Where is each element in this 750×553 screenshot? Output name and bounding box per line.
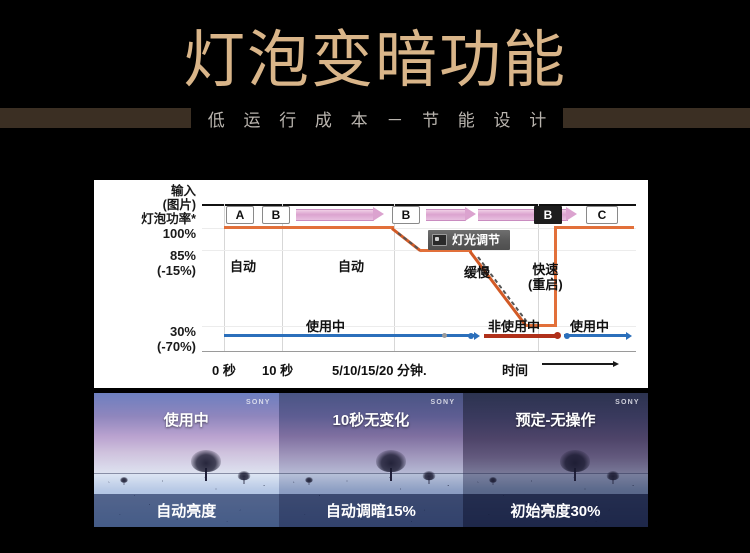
label-fast: 快速 — [528, 262, 563, 277]
light-adjust-badge-label: 灯光调节 — [452, 231, 500, 248]
y-axis-header-line-1: 输入 — [94, 184, 196, 198]
sony-logo: SONY — [431, 399, 456, 406]
photo-2-caption: 自动调暗15% — [279, 494, 464, 527]
y-tick-85-value: 85% — [94, 248, 196, 263]
tree-crown — [191, 450, 221, 472]
header: 灯泡变暗功能 低 运 行 成 本 － 节 能 设 计 — [0, 0, 750, 150]
label-auto-2: 自动 — [338, 256, 364, 275]
gridline-v-mid — [394, 204, 395, 352]
page-subtitle: 低 运 行 成 本 － 节 能 设 计 — [201, 106, 554, 131]
label-slow: 缓慢 — [464, 262, 490, 281]
usage-marker-red — [554, 332, 561, 339]
chip-c-1[interactable]: C — [586, 206, 618, 224]
y-tick-85: 85% (-15%) — [94, 248, 196, 278]
arrow-bar-2 — [426, 208, 476, 220]
y-tick-30-sub: (-70%) — [94, 339, 196, 354]
y-tick-100: 100% — [94, 226, 196, 241]
arrow-bar-1 — [296, 208, 386, 220]
arrow-bar-3 — [478, 208, 578, 220]
tree-crown — [238, 471, 251, 480]
tree-crown — [422, 471, 435, 480]
chip-b-3[interactable]: B — [534, 206, 562, 224]
x-tick-minutes: 5/10/15/20 分钟. — [332, 360, 427, 379]
chip-a-1[interactable]: A — [226, 206, 254, 224]
subtitle-row: 低 运 行 成 本 － 节 能 设 计 — [0, 104, 750, 132]
label-fast-sub: (重启) — [528, 277, 563, 292]
label-not-in-use: 非使用中 — [488, 316, 540, 335]
usage-arrow-2 — [626, 332, 632, 340]
x-axis-line — [202, 351, 636, 352]
sony-logo: SONY — [615, 399, 640, 406]
usage-line-in-use-1 — [224, 334, 474, 337]
arrow-bar-2-shaft — [426, 209, 466, 221]
plot-area: 自动 自动 缓慢 快速 (重启) 使用中 非使用中 使用中 灯光调节 — [202, 204, 636, 352]
photo-panel-2[interactable]: SONY 10秒无变化 自动调暗15% — [279, 393, 464, 527]
chart-panel: 输入 (图片) 灯泡功率* 100% 85% (-15%) 30% (-70%) — [94, 180, 648, 388]
y-tick-85-sub: (-15%) — [94, 263, 196, 278]
y-tick-30-value: 30% — [94, 324, 196, 339]
arrow-bar-1-shaft — [296, 209, 374, 221]
lamp-line-100-final — [554, 226, 634, 229]
usage-arrow-1 — [474, 332, 480, 340]
x-axis-label: 时间 — [502, 360, 528, 379]
photo-panel-1[interactable]: SONY 使用中 自动亮度 — [94, 393, 279, 527]
arrow-bar-1-head — [373, 207, 384, 221]
image-source-track: A B B B C — [202, 206, 636, 224]
photo-3-caption: 初始亮度30% — [463, 494, 648, 527]
photo-3-overlay-title: 预定-无操作 — [463, 409, 648, 430]
tree-crown — [560, 450, 590, 472]
arrow-bar-3-head — [566, 207, 577, 221]
subtitle-bar-left — [0, 108, 191, 128]
page-title: 灯泡变暗功能 — [0, 24, 750, 98]
label-in-use-1: 使用中 — [306, 316, 345, 335]
y-axis-header-line-3: 灯泡功率* — [94, 212, 196, 226]
photo-2-overlay-title: 10秒无变化 — [279, 409, 464, 430]
photo-1-caption: 自动亮度 — [94, 494, 279, 527]
label-fast-group: 快速 (重启) — [528, 262, 563, 292]
subtitle-bar-right — [563, 108, 750, 128]
page-root: 灯泡变暗功能 低 运 行 成 本 － 节 能 设 计 输入 (图片) 灯泡功率*… — [0, 0, 750, 553]
light-adjust-badge[interactable]: 灯光调节 — [428, 230, 510, 250]
chart-inner: 输入 (图片) 灯泡功率* 100% 85% (-15%) 30% (-70%) — [94, 180, 648, 388]
lamp-line-100-flat — [224, 226, 394, 229]
remote-control-icon — [432, 234, 447, 246]
label-in-use-2: 使用中 — [570, 316, 609, 335]
photo-1-overlay-title: 使用中 — [94, 409, 279, 430]
time-direction-arrow — [542, 363, 614, 365]
tree-crown — [376, 450, 406, 472]
chip-b-1[interactable]: B — [262, 206, 290, 224]
label-auto-1: 自动 — [230, 256, 256, 275]
tree-crown — [607, 471, 620, 480]
usage-marker-grey-1 — [442, 333, 447, 338]
photo-strip: SONY 使用中 自动亮度 SONY 10秒无变化 自动调暗15% — [94, 393, 648, 527]
y-tick-30: 30% (-70%) — [94, 324, 196, 354]
sony-logo: SONY — [246, 399, 271, 406]
y-axis-header: 输入 (图片) 灯泡功率* — [94, 184, 196, 226]
photo-panel-3[interactable]: SONY 预定-无操作 初始亮度30% — [463, 393, 648, 527]
arrow-bar-2-head — [465, 207, 476, 221]
chip-b-2[interactable]: B — [392, 206, 420, 224]
x-tick-0s: 0 秒 — [212, 360, 236, 379]
x-tick-10s: 10 秒 — [262, 360, 293, 379]
y-axis-header-line-2: (图片) — [94, 198, 196, 212]
